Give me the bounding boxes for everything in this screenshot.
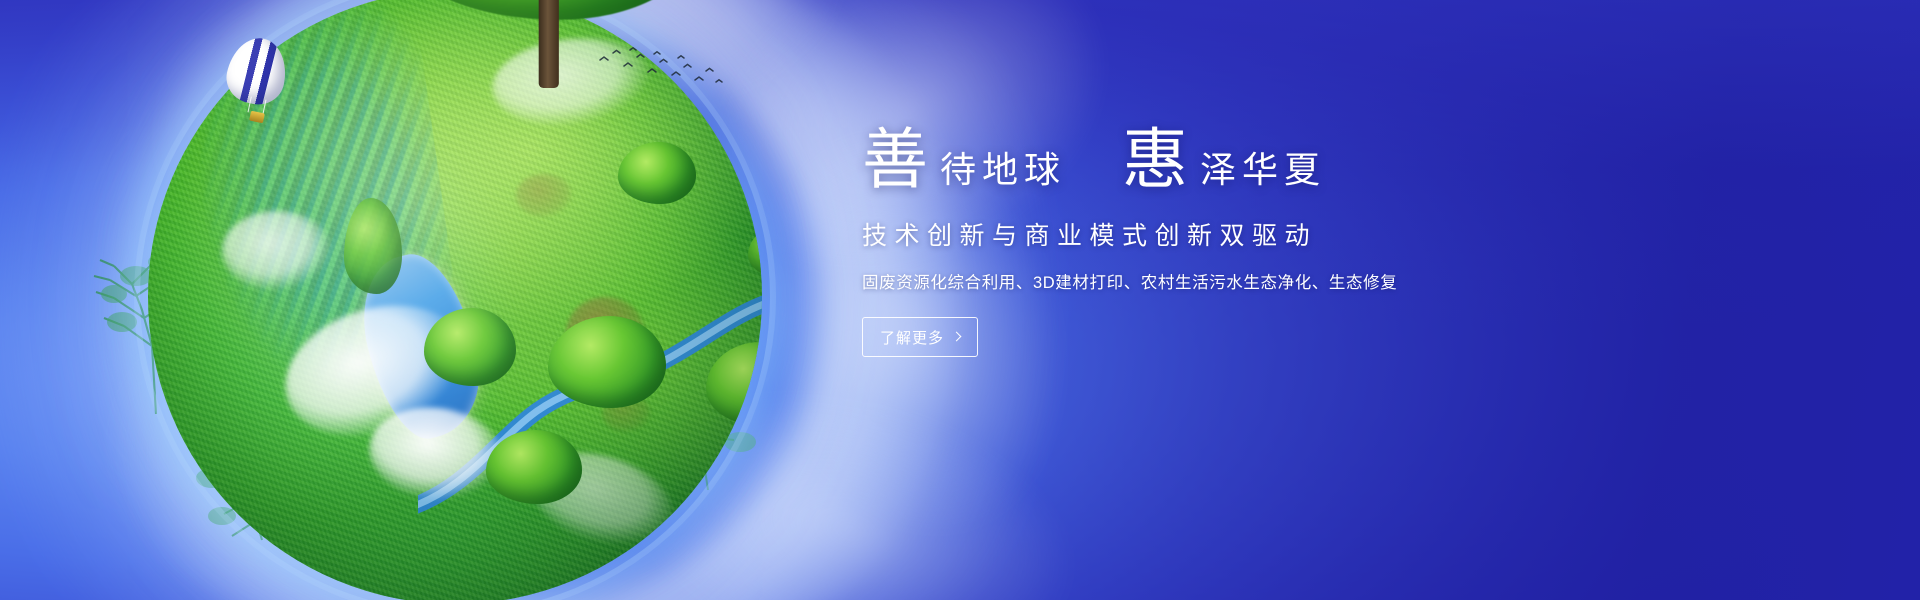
chevron-right-icon xyxy=(952,331,962,341)
hero-banner: 善 待地球 惠 泽华夏 技术创新与商业模式创新双驱动 固废资源化综合利用、3D建… xyxy=(0,0,1920,600)
tree-trunk xyxy=(539,0,559,88)
hot-air-balloon xyxy=(228,38,286,130)
headline-part1-big: 善 xyxy=(862,128,928,194)
hero-content: 善 待地球 惠 泽华夏 技术创新与商业模式创新双驱动 固废资源化综合利用、3D建… xyxy=(862,128,1622,357)
flying-birds-flock xyxy=(596,44,726,90)
balloon-basket xyxy=(249,111,265,124)
tagline: 技术创新与商业模式创新双驱动 xyxy=(862,216,1622,252)
learn-more-label: 了解更多 xyxy=(880,327,944,348)
headline-part1-small: 待地球 xyxy=(940,152,1066,188)
page-title: 善 待地球 惠 泽华夏 xyxy=(862,128,1622,194)
description: 固废资源化综合利用、3D建材打印、农村生活污水生态净化、生态修复 xyxy=(862,269,1622,293)
headline-part2-big: 惠 xyxy=(1122,128,1188,194)
learn-more-button[interactable]: 了解更多 xyxy=(862,317,978,357)
headline-part2-small: 泽华夏 xyxy=(1200,152,1326,188)
